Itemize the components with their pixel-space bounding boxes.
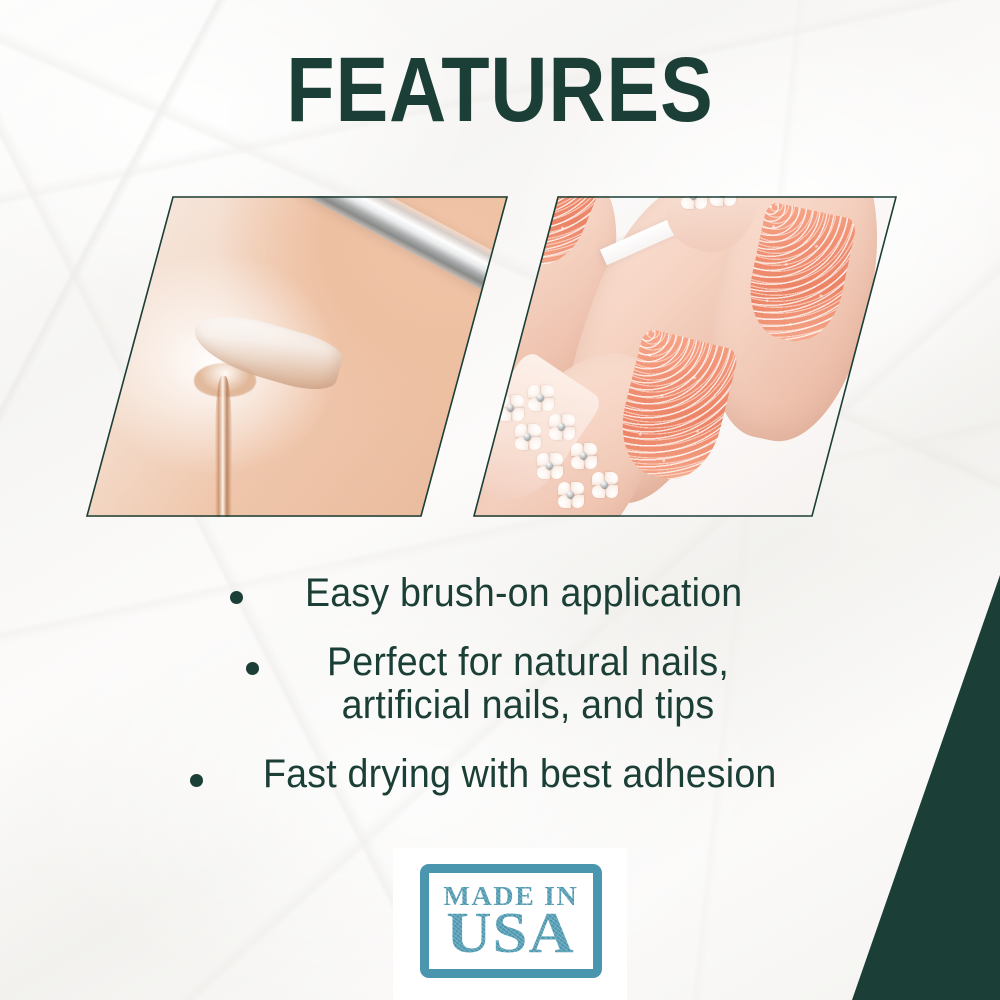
flower-decoration	[558, 482, 584, 508]
flower-decoration	[592, 472, 618, 498]
page-title: FEATURES	[70, 44, 930, 136]
flower-decoration	[571, 443, 597, 469]
stamp-line-usa: USA	[447, 907, 576, 959]
flower-decoration	[528, 385, 554, 411]
bullet-dot-icon	[190, 774, 203, 787]
bullet-dot-icon	[246, 662, 259, 675]
flower-decoration	[549, 414, 575, 440]
flower-decoration	[515, 424, 541, 450]
feature-text: Fast drying with best adhesion	[263, 753, 777, 796]
list-item: Perfect for natural nails, artificial na…	[0, 641, 1000, 727]
feature-text: Easy brush-on application	[305, 572, 742, 615]
flower-decoration	[681, 196, 707, 209]
list-item: Easy brush-on application	[0, 572, 1000, 615]
bullet-dot-icon	[230, 591, 243, 604]
features-list: Easy brush-on application Perfect for na…	[0, 572, 1000, 796]
flower-decoration	[537, 453, 563, 479]
list-item: Fast drying with best adhesion	[0, 753, 1000, 796]
made-in-usa-stamp: MADE IN USA	[420, 864, 602, 978]
liquid-drip	[215, 376, 232, 517]
flower-decoration	[710, 196, 736, 206]
features-infographic: FEATURES	[0, 0, 1000, 1000]
feature-text: Perfect for natural nails, artificial na…	[327, 641, 729, 727]
brush-handle-highlight	[279, 196, 508, 323]
